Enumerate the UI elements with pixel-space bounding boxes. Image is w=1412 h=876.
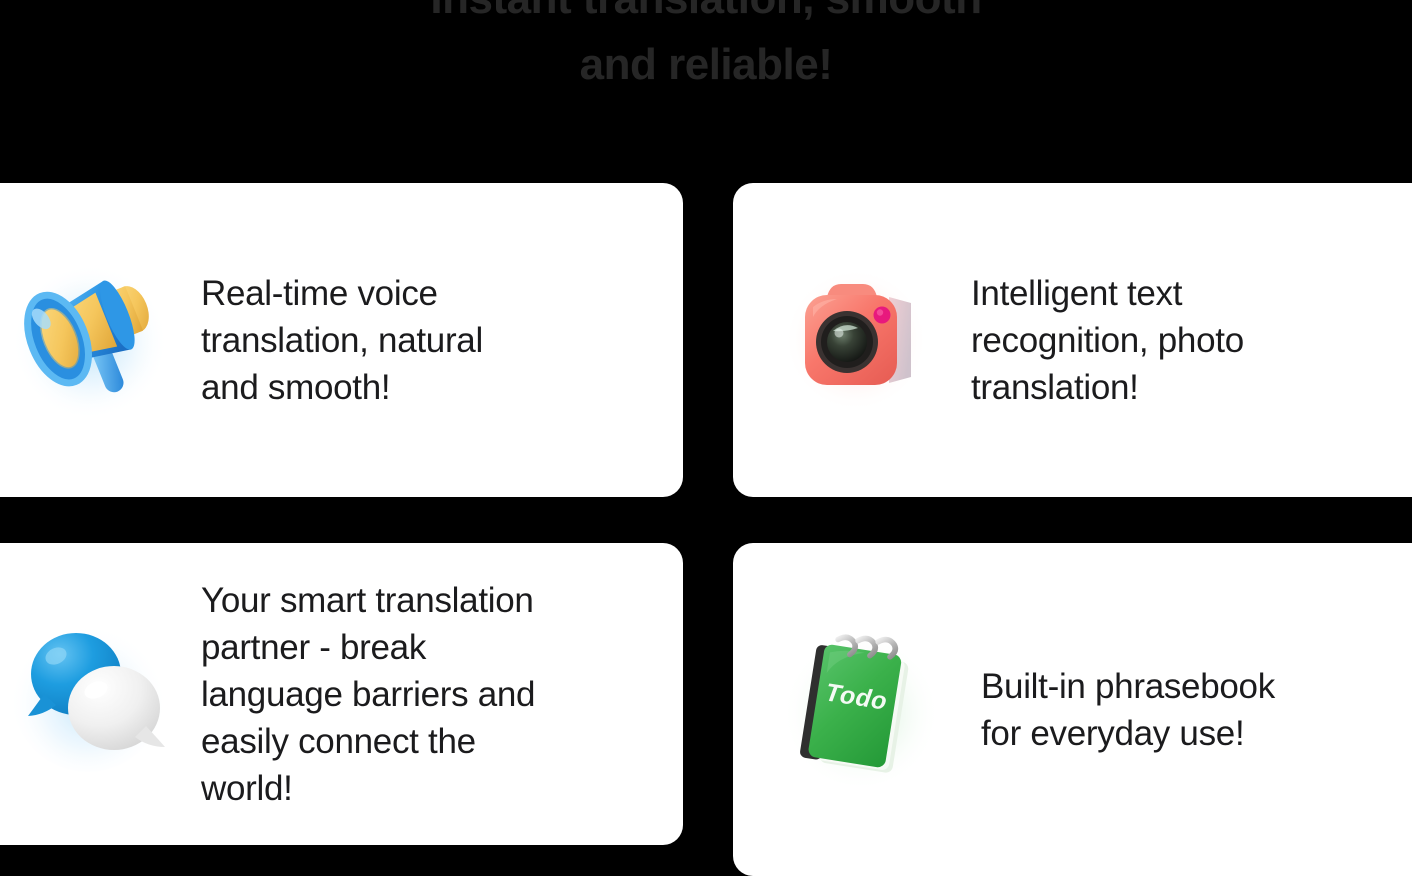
camera-icon (771, 255, 941, 425)
feature-card-text-recognition[interactable]: Intelligent text recognition, photo tran… (733, 183, 1412, 497)
chat-bubbles-icon (0, 604, 180, 784)
feature-card-smart-partner[interactable]: Your smart translation partner - break l… (0, 543, 683, 845)
feature-card-phrasebook[interactable]: Todo Built-in phrasebook for everyday us… (733, 543, 1412, 876)
page-title: Instant translation, smooth and reliable… (0, 0, 1412, 98)
megaphone-icon (0, 250, 180, 430)
feature-card-text: Built-in phrasebook for everyday use! (981, 663, 1361, 757)
feature-card-text: Your smart translation partner - break l… (201, 577, 611, 812)
todo-notepad-icon: Todo (771, 620, 951, 800)
feature-card-real-time-voice[interactable]: Real-time voice translation, natural and… (0, 183, 683, 497)
feature-card-text: Intelligent text recognition, photo tran… (971, 270, 1351, 411)
feature-card-text: Real-time voice translation, natural and… (201, 270, 581, 411)
